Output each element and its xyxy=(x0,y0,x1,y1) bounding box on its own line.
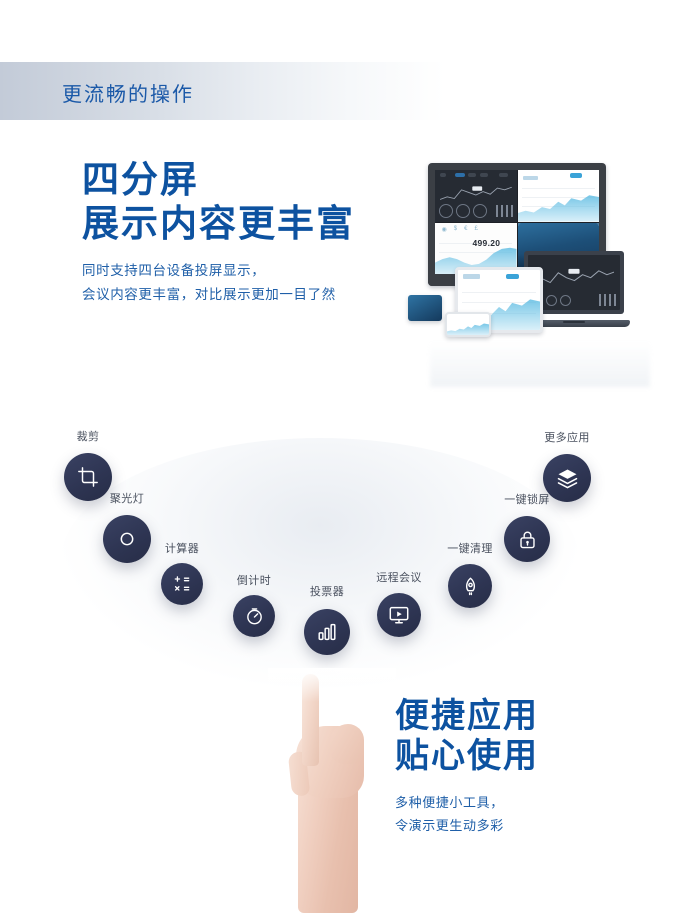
hero-bottom-text-block: 便捷应用 贴心使用 多种便捷小工具， 令演示更生动多彩 xyxy=(395,696,655,838)
tool-label: 裁剪 xyxy=(77,428,100,444)
tool-label: 倒计时 xyxy=(237,572,271,588)
trading-value: 499.20 xyxy=(472,238,500,248)
device-cluster: ◉$€£ 499.20 xyxy=(420,155,660,385)
tool-label: 更多应用 xyxy=(544,429,590,445)
hero-top-text-block: 四分屏 展示内容更丰富 同时支持四台设备投屏显示， 会议内容更丰富，对比展示更加… xyxy=(82,158,412,307)
laptop-notch xyxy=(563,321,585,323)
calculator-icon[interactable] xyxy=(161,563,203,605)
layers-icon[interactable] xyxy=(543,454,591,502)
product-marketing-page: 更流畅的操作 四分屏 展示内容更丰富 同时支持四台设备投屏显示， 会议内容更丰富… xyxy=(0,0,674,913)
quadrant-dark-dashboard xyxy=(435,170,517,222)
banner-title: 更流畅的操作 xyxy=(62,78,194,107)
tool-label: 聚光灯 xyxy=(110,490,144,506)
tool-label: 投票器 xyxy=(310,583,344,599)
lock-icon[interactable] xyxy=(504,516,550,562)
poll-icon[interactable] xyxy=(304,609,350,655)
crop-icon[interactable] xyxy=(64,453,112,501)
quadrant-light-area-chart xyxy=(518,170,600,222)
rocket-clean-icon[interactable] xyxy=(448,564,492,608)
trading-toolbar: ◉$€£ xyxy=(442,226,478,233)
hero-top-sub-line2: 会议内容更丰富，对比展示更加一目了然 xyxy=(82,283,412,307)
phone-blue xyxy=(408,295,442,321)
phone-white xyxy=(445,312,491,337)
timer-icon[interactable] xyxy=(233,595,275,637)
tool-label: 远程会议 xyxy=(376,569,422,585)
tool-icon-arc: 裁剪聚光灯计算器倒计时投票器远程会议一键清理一键锁屏更多应用 xyxy=(0,420,674,680)
tool-label: 一键清理 xyxy=(447,540,493,556)
spotlight-icon[interactable] xyxy=(103,515,151,563)
remote-meeting-icon[interactable] xyxy=(377,593,421,637)
hero-bottom-heading-line1: 便捷应用 xyxy=(395,696,655,736)
device-reflection xyxy=(430,341,650,387)
hero-top-sub-line1: 同时支持四台设备投屏显示， xyxy=(82,259,412,283)
tool-label: 计算器 xyxy=(165,540,199,556)
hero-bottom-sub-line2: 令演示更生动多彩 xyxy=(395,815,655,838)
hero-bottom-sub-line1: 多种便捷小工具， xyxy=(395,792,655,815)
dark-gauges-row xyxy=(439,203,513,219)
tool-label: 一键锁屏 xyxy=(504,491,550,507)
hand-knuckles xyxy=(330,724,364,764)
hand-top-fade xyxy=(268,668,396,702)
hero-top-heading-line1: 四分屏 xyxy=(82,158,412,202)
phone-white-chart xyxy=(447,322,489,335)
hero-top-heading-line2: 展示内容更丰富 xyxy=(82,202,412,246)
pointing-hand-illustration xyxy=(268,668,396,913)
hero-bottom-heading-line2: 贴心使用 xyxy=(395,736,655,776)
